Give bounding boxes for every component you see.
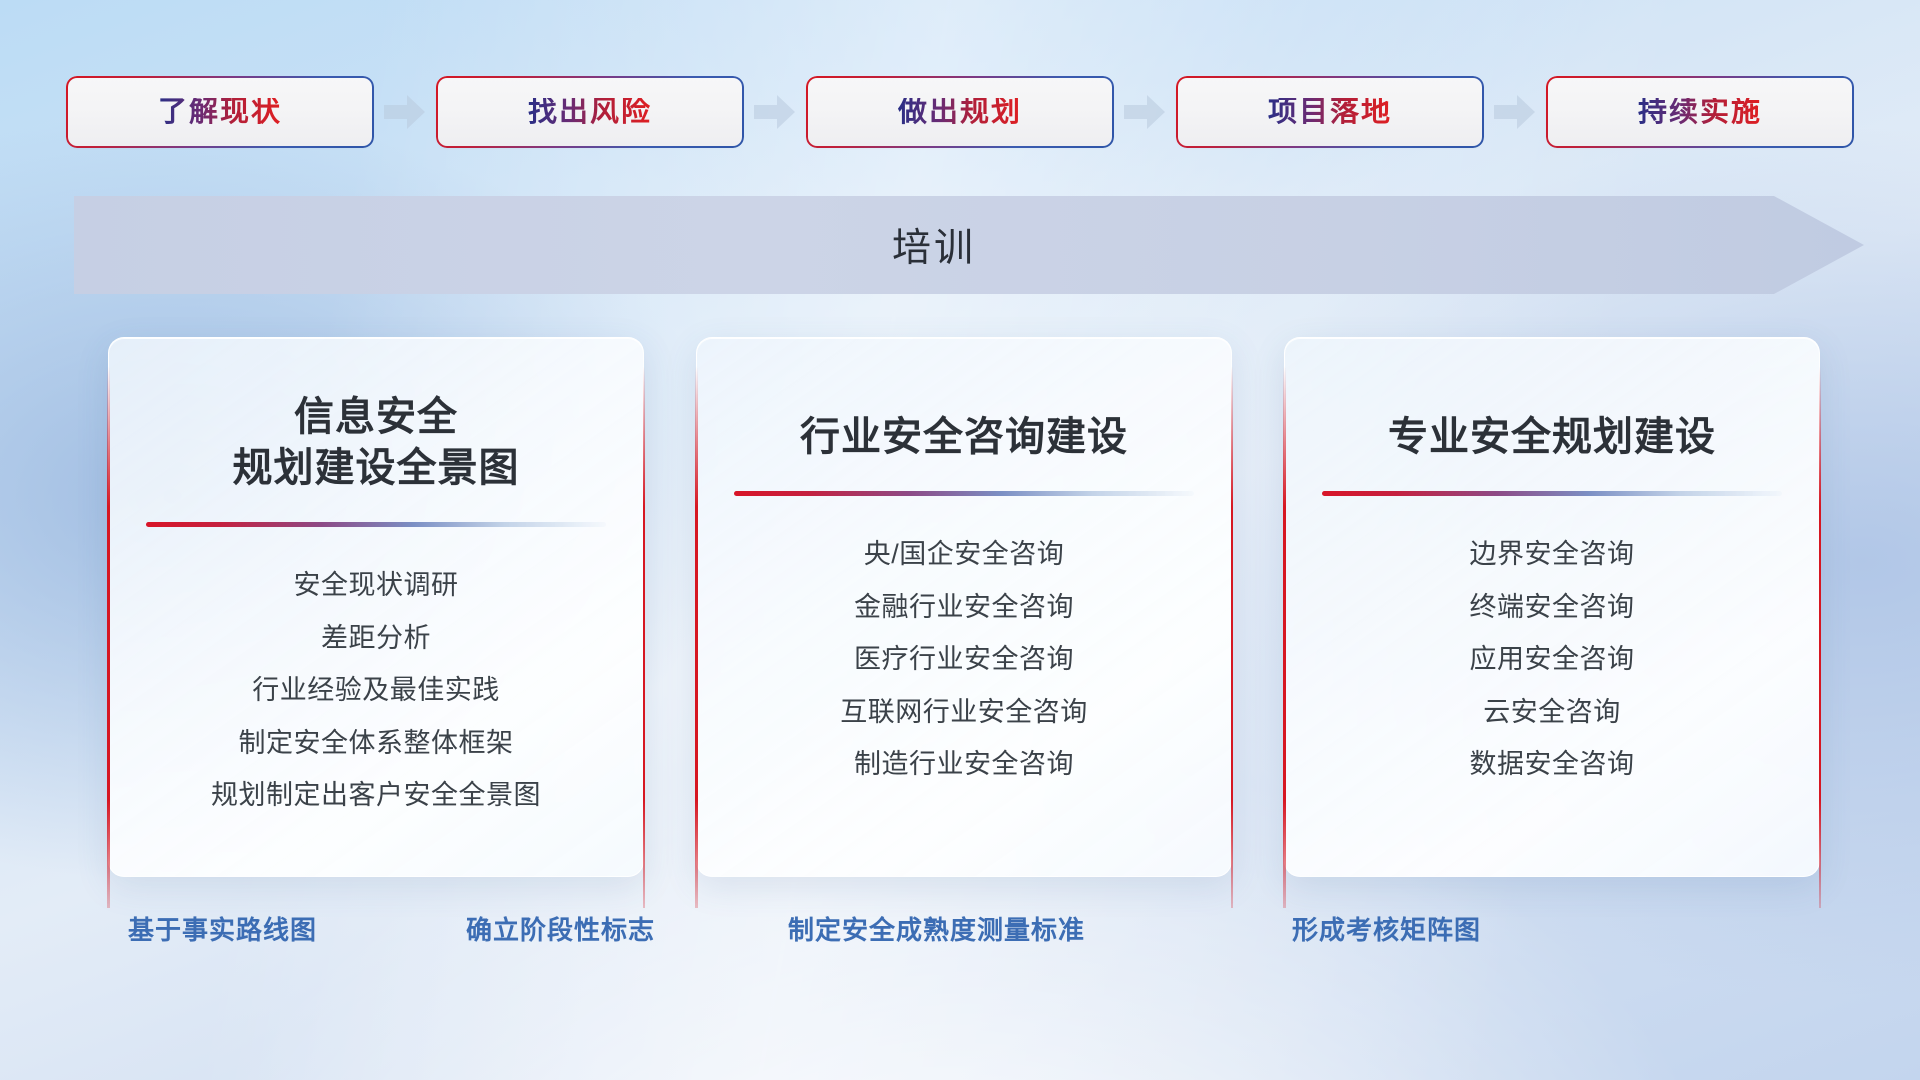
list-item: 安全现状调研 bbox=[294, 567, 459, 603]
arrow-right-icon bbox=[754, 94, 796, 130]
list-item: 应用安全咨询 bbox=[1470, 641, 1635, 677]
card-title: 行业安全咨询建设 bbox=[800, 412, 1128, 463]
list-item: 边界安全咨询 bbox=[1470, 536, 1635, 572]
card-accent-line-left bbox=[695, 366, 698, 908]
footer-label-milestone: 确立阶段性标志 bbox=[466, 910, 655, 947]
card-accent-line-right bbox=[1819, 366, 1822, 908]
step-label-3: 做出规划 bbox=[898, 98, 1022, 127]
list-item: 行业经验及最佳实践 bbox=[252, 672, 500, 708]
training-banner-label: 培训 bbox=[74, 196, 1794, 294]
card-title: 专业安全规划建设 bbox=[1388, 412, 1716, 463]
card-accent-line-left bbox=[1283, 366, 1286, 908]
card-row: 信息安全 规划建设全景图 安全现状调研 差距分析 行业经验及最佳实践 制定安全体… bbox=[108, 337, 1820, 875]
step-label-4: 项目落地 bbox=[1268, 98, 1392, 127]
list-item: 规划制定出客户安全全景图 bbox=[211, 777, 541, 813]
list-item: 金融行业安全咨询 bbox=[854, 589, 1074, 625]
card-industry-security-consulting[interactable]: 行业安全咨询建设 央/国企安全咨询 金融行业安全咨询 医疗行业安全咨询 互联网行… bbox=[696, 337, 1232, 877]
footer-label-maturity: 制定安全成熟度测量标准 bbox=[788, 910, 1085, 947]
list-item: 终端安全咨询 bbox=[1470, 589, 1635, 625]
card-information-security-blueprint[interactable]: 信息安全 规划建设全景图 安全现状调研 差距分析 行业经验及最佳实践 制定安全体… bbox=[108, 337, 644, 877]
list-item: 央/国企安全咨询 bbox=[864, 536, 1065, 572]
card-title: 信息安全 规划建设全景图 bbox=[233, 392, 520, 494]
footer-label-row: 基于事实路线图 确立阶段性标志 制定安全成熟度测量标准 形成考核矩阵图 bbox=[108, 910, 1820, 956]
card-accent-line-right bbox=[643, 366, 646, 908]
arrow-right-icon bbox=[1124, 94, 1166, 130]
arrow-right-icon bbox=[384, 94, 426, 130]
card-divider bbox=[734, 491, 1194, 496]
list-item: 数据安全咨询 bbox=[1470, 746, 1635, 782]
step-box-2[interactable]: 找出风险 bbox=[438, 78, 742, 146]
training-banner: 培训 bbox=[74, 196, 1864, 294]
card-divider bbox=[146, 522, 606, 527]
list-item: 医疗行业安全咨询 bbox=[854, 641, 1074, 677]
list-item: 互联网行业安全咨询 bbox=[840, 694, 1088, 730]
card-list: 央/国企安全咨询 金融行业安全咨询 医疗行业安全咨询 互联网行业安全咨询 制造行… bbox=[840, 536, 1088, 782]
step-label-2: 找出风险 bbox=[528, 98, 652, 127]
card-divider bbox=[1322, 491, 1782, 496]
step-box-5[interactable]: 持续实施 bbox=[1548, 78, 1852, 146]
footer-label-matrix: 形成考核矩阵图 bbox=[1292, 910, 1481, 947]
card-professional-security-planning[interactable]: 专业安全规划建设 边界安全咨询 终端安全咨询 应用安全咨询 云安全咨询 数据安全… bbox=[1284, 337, 1820, 877]
footer-label-roadmap: 基于事实路线图 bbox=[128, 910, 317, 947]
step-label-1: 了解现状 bbox=[158, 98, 282, 127]
card-list: 安全现状调研 差距分析 行业经验及最佳实践 制定安全体系整体框架 规划制定出客户… bbox=[211, 567, 541, 813]
card-accent-line-right bbox=[1231, 366, 1234, 908]
step-box-4[interactable]: 项目落地 bbox=[1178, 78, 1482, 146]
step-box-3[interactable]: 做出规划 bbox=[808, 78, 1112, 146]
card-list: 边界安全咨询 终端安全咨询 应用安全咨询 云安全咨询 数据安全咨询 bbox=[1470, 536, 1635, 782]
step-box-1[interactable]: 了解现状 bbox=[68, 78, 372, 146]
list-item: 制造行业安全咨询 bbox=[854, 746, 1074, 782]
card-accent-line-left bbox=[107, 366, 110, 908]
list-item: 差距分析 bbox=[321, 620, 431, 656]
step-label-5: 持续实施 bbox=[1638, 98, 1762, 127]
list-item: 制定安全体系整体框架 bbox=[239, 725, 514, 761]
process-step-strip: 了解现状 找出风险 做出规划 项目落地 持续实施 bbox=[68, 76, 1852, 148]
list-item: 云安全咨询 bbox=[1483, 694, 1621, 730]
arrow-right-icon bbox=[1494, 94, 1536, 130]
